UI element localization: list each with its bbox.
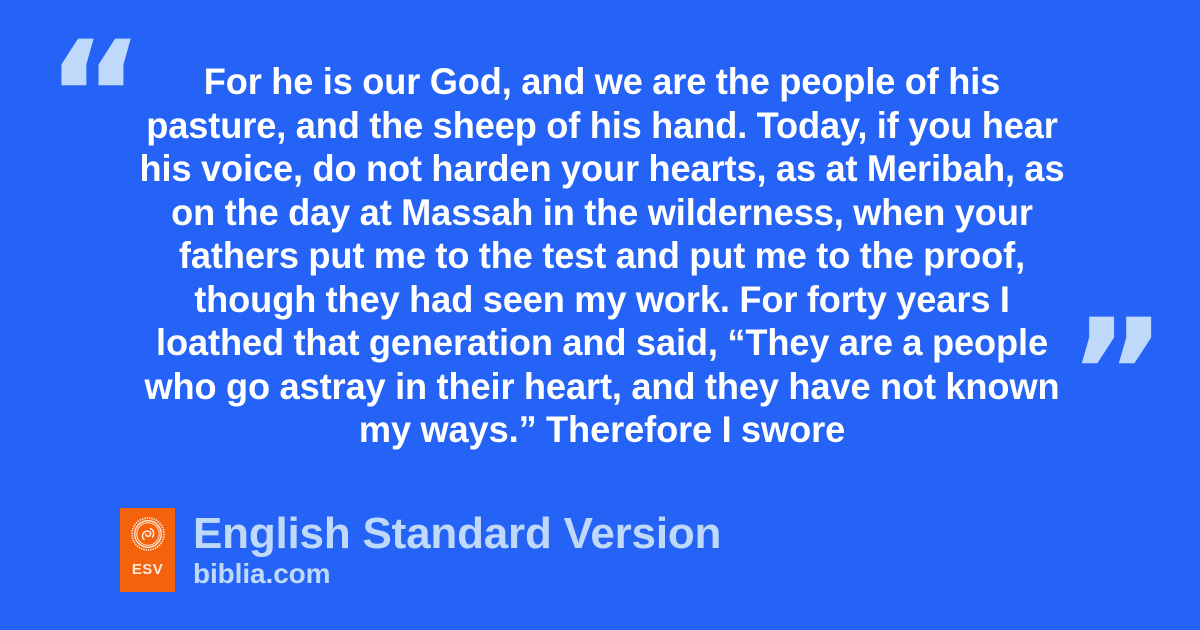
site-url[interactable]: biblia.com	[193, 558, 721, 590]
esv-seal-icon	[131, 517, 165, 551]
verse-text: For he is our God, and we are the people…	[137, 60, 1067, 452]
attribution-text: English Standard Version biblia.com	[193, 508, 721, 590]
esv-logo-label: ESV	[132, 562, 163, 577]
verse-share-card: “ ” For he is our God, and we are the pe…	[0, 0, 1200, 630]
esv-logo: ESV	[120, 508, 175, 592]
quote-block: For he is our God, and we are the people…	[120, 60, 1084, 452]
bible-version-name: English Standard Version	[193, 510, 721, 558]
attribution: ESV English Standard Version biblia.com	[120, 508, 721, 592]
